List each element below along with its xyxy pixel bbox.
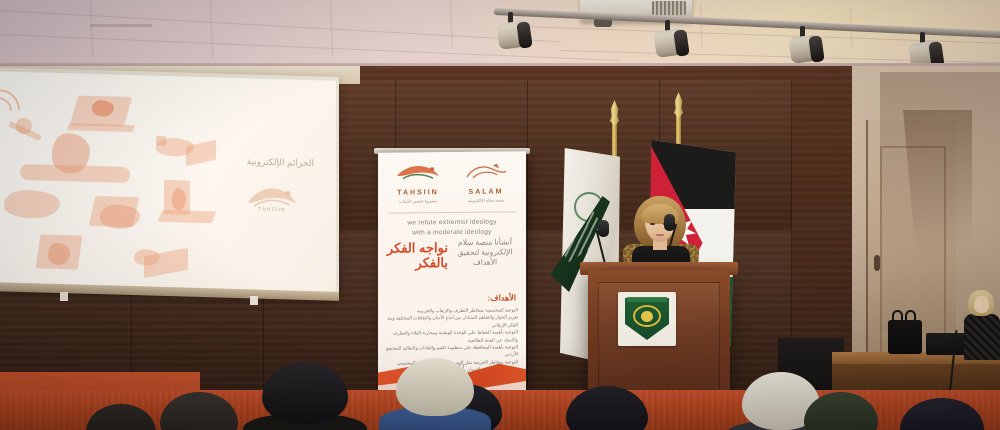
seated-attendee (962, 290, 1000, 360)
conference-hall-photo: الجرائم الإلكترونية TAHSIIN TAHSIIN (0, 0, 1000, 430)
attendee-body (964, 314, 1000, 360)
attendee-black-hair-right (566, 386, 648, 430)
banner-logo-row: TAHSIIN مشروع تحصين الشباب SALAM منصة سل… (378, 161, 526, 211)
screen-mount (250, 296, 258, 305)
slide-title: الجرائم الإلكترونية (247, 156, 314, 169)
ceiling-vent (90, 24, 152, 27)
ceiling (0, 0, 1000, 72)
banner-logo-sub: منصة سلام الإلكترونية (456, 197, 516, 203)
banner-goals-title: الأهداف: (488, 293, 516, 302)
microphone-icon (598, 220, 609, 237)
slide-illustration (4, 189, 60, 219)
handbag-handle (905, 310, 916, 323)
projection-screen-surface: الجرائم الإلكترونية TAHSIIN (0, 71, 336, 292)
desk-illustration (157, 210, 216, 223)
banner-headline-ar: نواجه الفكر بالفكر (386, 240, 448, 271)
banner-subhead-ar: أنشأنا منصة سلام الإلكترونية لتحقيق الأه… (452, 237, 518, 268)
attendee-dark-cap (160, 392, 238, 430)
ceiling-tile-line (90, 0, 93, 56)
banner-logo-label: TAHSIIN (388, 189, 448, 197)
attendee-hair (804, 392, 878, 430)
banner-logo-sub: مشروع تحصين الشباب (388, 198, 448, 204)
attendee-uniform-green (804, 392, 878, 430)
attendee-hair (900, 398, 984, 430)
emblem-center-icon (641, 311, 653, 322)
banner-logo-label: SALAM (456, 188, 516, 196)
microphone-icon (664, 214, 675, 231)
attendee-black-hair (262, 362, 348, 424)
attendee-blue-suit-grey-hair (396, 358, 474, 416)
laptop-illustration (67, 123, 136, 132)
podium-emblem-plaque (618, 292, 676, 346)
projection-screen: الجرائم الإلكترونية TAHSIIN (0, 67, 339, 299)
banner-goal-item: تعزيز الحوار والتفاهم المتبادل بين أتباع… (386, 314, 518, 330)
handbag-handle (892, 310, 903, 323)
ceiling-tile-line (210, 0, 213, 58)
banner-divider (388, 211, 516, 213)
hand-illustration (100, 204, 140, 229)
attendee-hair (262, 362, 348, 424)
screen-mount (60, 292, 68, 301)
attendee-face (974, 296, 989, 313)
attendee-hair (396, 358, 474, 416)
banner-logo-salam: SALAM منصة سلام الإلكترونية (456, 161, 516, 203)
banner-english-tagline: we refute extremist ideology with a mode… (378, 217, 526, 239)
salam-calligraphy-icon (463, 161, 509, 181)
attendee-dark-hair (900, 398, 984, 430)
banner-goal-item: التوعية بأهمية الحفاظ على الوحدة الوطنية… (386, 329, 518, 345)
presenter-eye (650, 223, 655, 225)
handbag[interactable] (888, 320, 922, 354)
attendee-hair (160, 392, 238, 430)
presenter-mouth (656, 234, 664, 236)
attendee-dark-hair (86, 404, 156, 430)
attendee-hair (86, 404, 156, 430)
projector-vent (652, 1, 686, 15)
desk-illustration (20, 164, 130, 183)
emblem-top-band (627, 297, 667, 302)
dove-mark-icon (395, 162, 441, 182)
banner-logo-tahsiin: TAHSIIN مشروع تحصين الشباب (388, 162, 448, 204)
attendee-hair (566, 386, 648, 430)
